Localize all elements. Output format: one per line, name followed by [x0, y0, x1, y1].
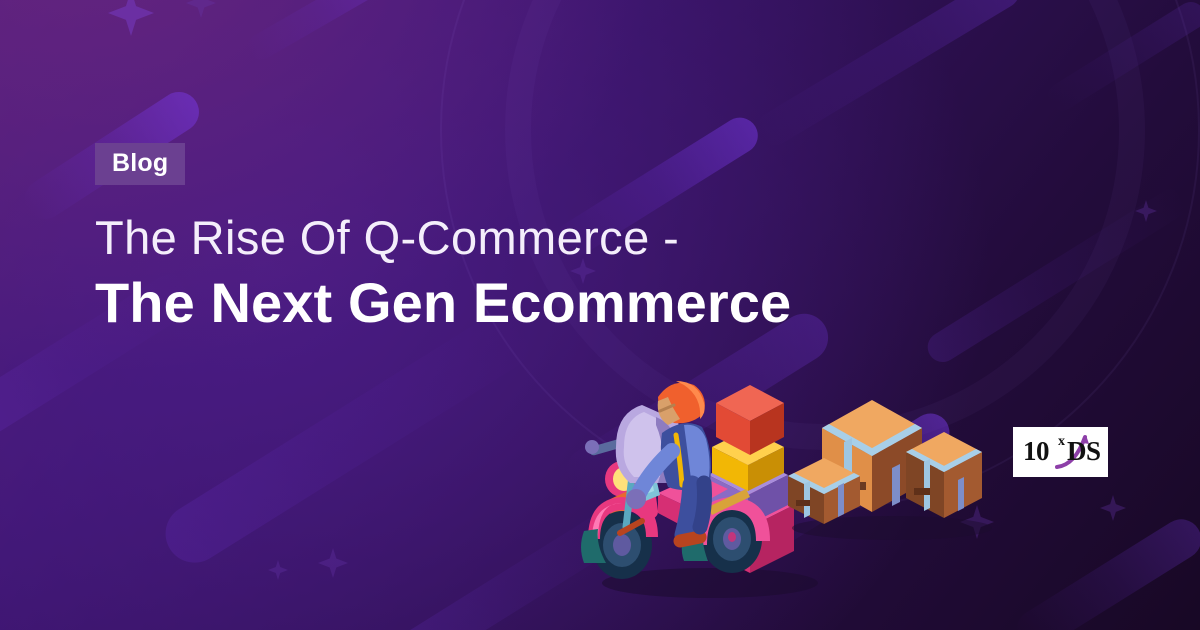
logo-suffix-text: DS [1067, 438, 1101, 465]
star-icon [268, 560, 288, 580]
brand-logo[interactable]: 10 x DS [1013, 427, 1108, 477]
star-icon [186, 0, 216, 18]
banner-content: Blog The Rise Of Q-Commerce - The Next G… [95, 143, 791, 334]
cardboard-parcels-icon [782, 390, 1002, 540]
comet-streak [1009, 512, 1200, 630]
comet-streak [244, 0, 387, 64]
star-icon [1135, 200, 1157, 222]
page-title-line-1: The Rise Of Q-Commerce - [95, 212, 791, 265]
logo-base-text: 10 [1023, 438, 1049, 465]
category-badge[interactable]: Blog [95, 143, 185, 185]
star-icon [1100, 495, 1126, 521]
page-title-line-2: The Next Gen Ecommerce [95, 272, 791, 335]
comet-streak [751, 0, 1026, 152]
star-icon [318, 548, 348, 578]
comet-streak [922, 183, 1192, 367]
blog-banner: Blog The Rise Of Q-Commerce - The Next G… [0, 0, 1200, 630]
logo-exponent-text: x [1058, 435, 1065, 449]
comet-streak [155, 302, 542, 574]
comet-streak [1043, 0, 1200, 116]
star-icon [108, 0, 154, 36]
